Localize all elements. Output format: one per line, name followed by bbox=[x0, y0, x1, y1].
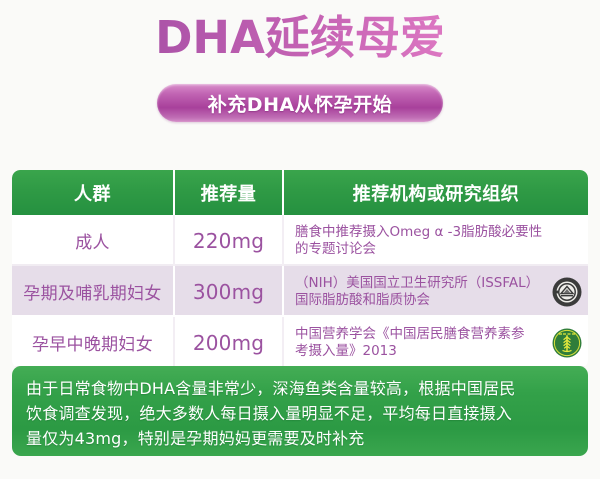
table-header-row: 人群 推荐量 推荐机构或研究组织 bbox=[12, 170, 588, 215]
summary-note: 由于日常食物中DHA含量非常少，深海鱼类含量较高，根据中国居民 饮食调查发现，绝… bbox=[12, 366, 588, 456]
cell-source-line2: 的专题讨论会 bbox=[295, 241, 542, 258]
cell-source: （NIH）美国国立卫生研究所（ISSFAL） 国际脂肪酸和脂质协会 bbox=[284, 266, 588, 317]
cell-source-line1: 膳食中推荐摄入Omeg α -3脂肪酸必要性 bbox=[295, 224, 542, 241]
chinese-nutrition-society-icon bbox=[552, 328, 582, 358]
column-header-group: 人群 bbox=[12, 170, 175, 215]
recommendation-table: 人群 推荐量 推荐机构或研究组织 成人 220mg 膳食中推荐摄入Omeg α … bbox=[12, 170, 588, 368]
cell-source: 中国营养学会《中国居民膳食营养素参 考摄入量》2013 bbox=[284, 317, 588, 368]
cell-source: 膳食中推荐摄入Omeg α -3脂肪酸必要性 的专题讨论会 bbox=[284, 215, 588, 266]
note-line-2: 饮食调查发现，绝大多数人每日摄入量明显不足，平均每日直接摄入 bbox=[26, 401, 574, 426]
table-row: 孕期及哺乳期妇女 300mg （NIH）美国国立卫生研究所（ISSFAL） 国际… bbox=[12, 266, 588, 317]
subtitle-pill: 补充DHA从怀孕开始 bbox=[157, 84, 443, 122]
subtitle-pill-label: 补充DHA从怀孕开始 bbox=[208, 90, 392, 117]
column-header-source: 推荐机构或研究组织 bbox=[284, 170, 588, 215]
issfal-seal-icon bbox=[552, 277, 582, 307]
page-title: DHA延续母爱 bbox=[0, 8, 600, 68]
table-row: 成人 220mg 膳食中推荐摄入Omeg α -3脂肪酸必要性 的专题讨论会 bbox=[12, 215, 588, 266]
cell-source-line1: （NIH）美国国立卫生研究所（ISSFAL） bbox=[295, 275, 539, 292]
cell-group: 孕早中晚期妇女 bbox=[12, 317, 175, 368]
cell-source-line1: 中国营养学会《中国居民膳食营养素参 bbox=[295, 326, 525, 343]
cell-amount: 220mg bbox=[175, 215, 284, 266]
cell-source-line2: 国际脂肪酸和脂质协会 bbox=[295, 292, 539, 309]
cell-amount: 200mg bbox=[175, 317, 284, 368]
cell-group: 孕期及哺乳期妇女 bbox=[12, 266, 175, 317]
cell-group: 成人 bbox=[12, 215, 175, 266]
cell-amount: 300mg bbox=[175, 266, 284, 317]
hero-section: DHA延续母爱 补充DHA从怀孕开始 bbox=[0, 0, 600, 122]
cell-source-line2: 考摄入量》2013 bbox=[295, 343, 525, 360]
note-line-1: 由于日常食物中DHA含量非常少，深海鱼类含量较高，根据中国居民 bbox=[26, 376, 574, 401]
column-header-amount: 推荐量 bbox=[175, 170, 284, 215]
subtitle-pill-wrapper: 补充DHA从怀孕开始 bbox=[0, 84, 600, 122]
note-line-3: 量仅为43mg，特别是孕期妈妈更需要及时补充 bbox=[26, 426, 574, 451]
table-row: 孕早中晚期妇女 200mg 中国营养学会《中国居民膳食营养素参 考摄入量》201… bbox=[12, 317, 588, 368]
